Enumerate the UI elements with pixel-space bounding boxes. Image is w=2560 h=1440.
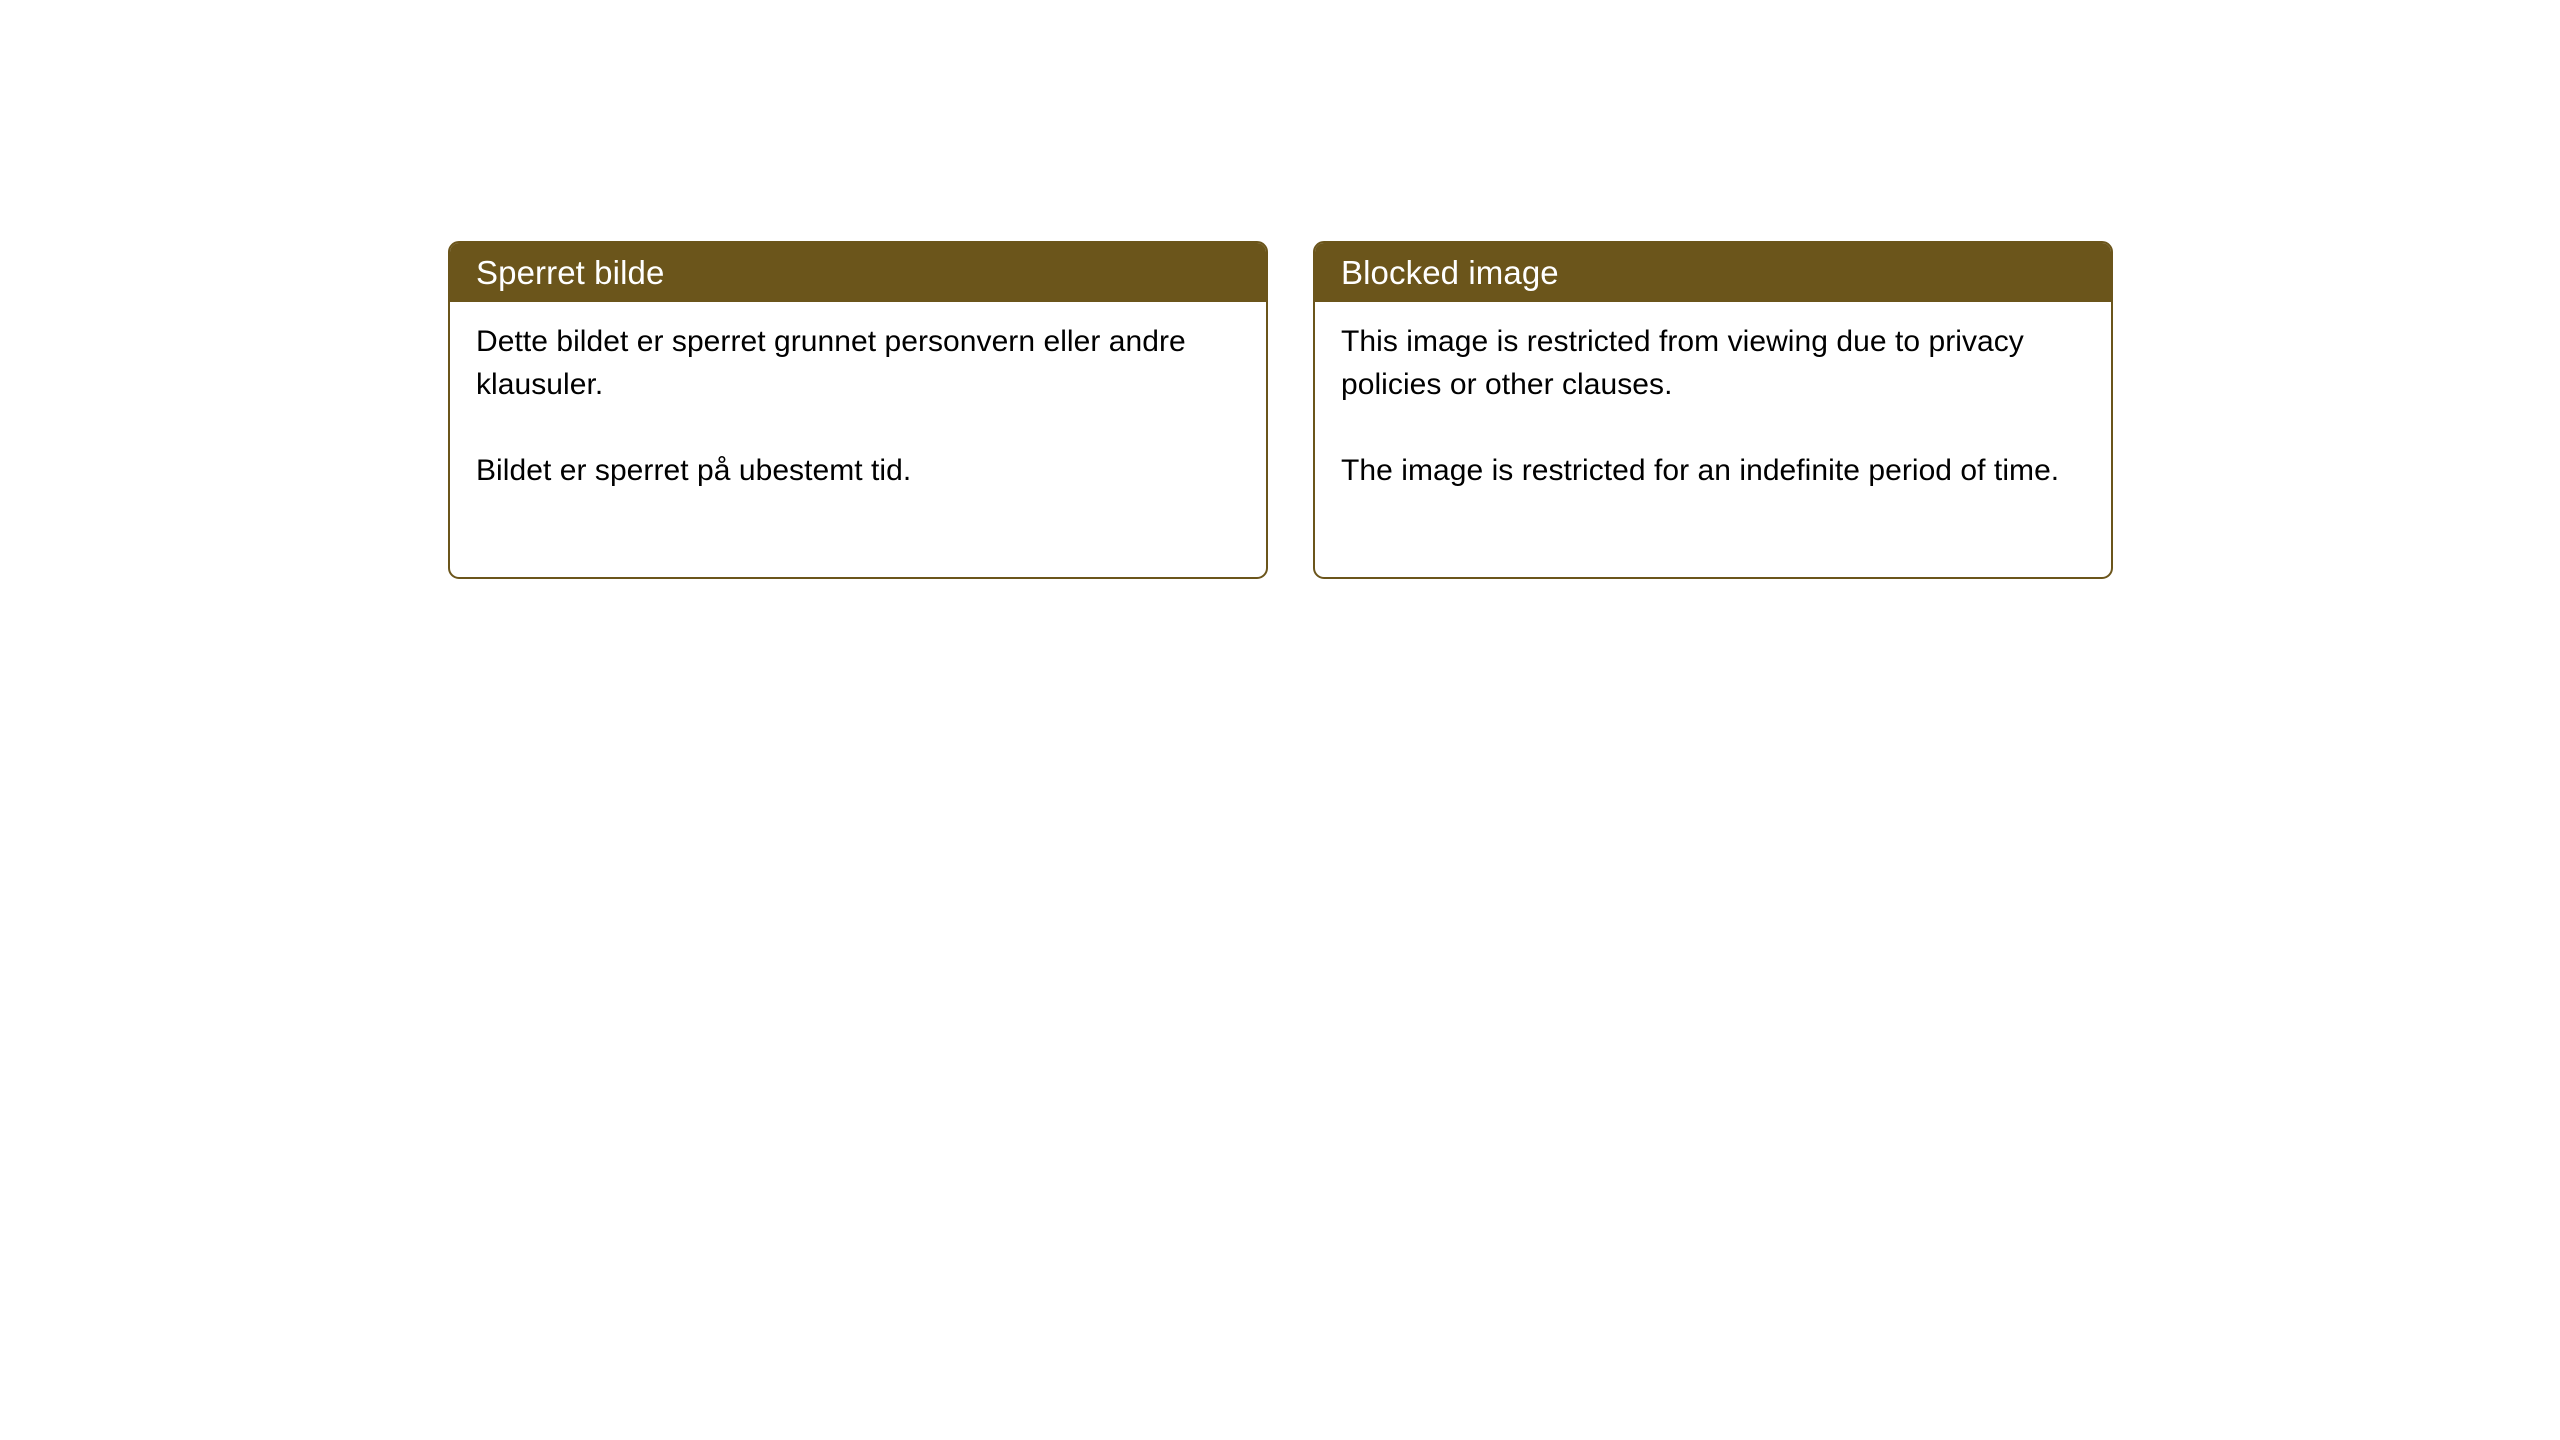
panel-paragraph-en-1: This image is restricted from viewing du… [1341, 320, 2091, 406]
blocked-image-notice-panel-no: Sperret bilde Dette bildet er sperret gr… [448, 241, 1268, 579]
panel-paragraph-en-2: The image is restricted for an indefinit… [1341, 449, 2091, 492]
panel-paragraph-no-2: Bildet er sperret på ubestemt tid. [476, 449, 1246, 492]
blocked-image-notice-panel-en: Blocked image This image is restricted f… [1313, 241, 2113, 579]
panel-title-no: Sperret bilde [450, 243, 1266, 302]
panel-body-en: This image is restricted from viewing du… [1315, 302, 2111, 492]
panel-paragraph-no-1: Dette bildet er sperret grunnet personve… [476, 320, 1246, 406]
panel-title-en: Blocked image [1315, 243, 2111, 302]
page-canvas: Sperret bilde Dette bildet er sperret gr… [0, 0, 2560, 1440]
panel-body-no: Dette bildet er sperret grunnet personve… [450, 302, 1266, 492]
